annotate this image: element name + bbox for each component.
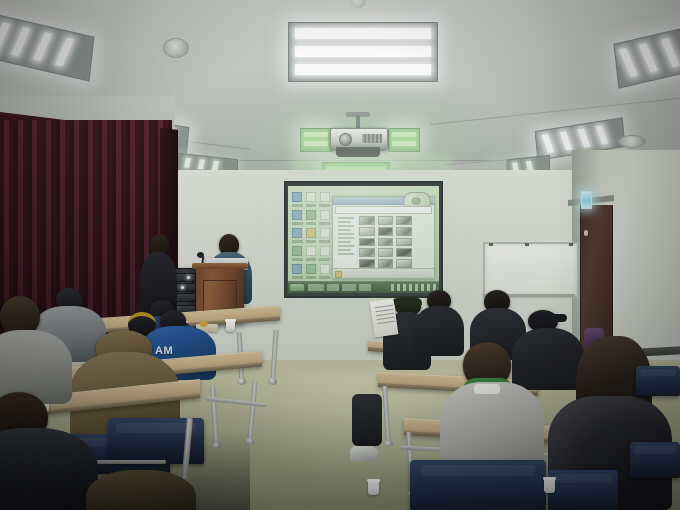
desktop-icon[interactable] [291, 227, 304, 244]
explorer-status-bar [333, 268, 434, 278]
lectern-top [192, 263, 248, 269]
file-thumbnail[interactable] [359, 259, 375, 268]
desktop-icon[interactable] [318, 209, 331, 226]
ceiling-light-green-right [388, 128, 420, 152]
desktop-icon[interactable] [291, 245, 304, 262]
desktop-icon[interactable] [291, 209, 304, 226]
desktop-icon-grid [290, 190, 332, 281]
file-thumbnail[interactable] [378, 238, 394, 247]
file-explorer-window[interactable] [332, 196, 435, 279]
door-handle-icon[interactable] [584, 230, 588, 236]
desktop-icon[interactable] [291, 191, 304, 208]
file-thumbnail[interactable] [359, 248, 375, 257]
file-thumbnail[interactable] [378, 259, 394, 268]
cap-brim-icon [545, 314, 567, 322]
desktop-icon[interactable] [305, 263, 318, 280]
shirt-collar [474, 384, 500, 394]
file-thumbnail[interactable] [359, 238, 375, 247]
desktop-icon[interactable] [305, 191, 318, 208]
desktop-icon[interactable] [318, 191, 331, 208]
file-thumbnail[interactable] [396, 259, 412, 268]
attendee-shoe [350, 446, 378, 462]
file-thumbnail[interactable] [378, 216, 394, 225]
paper-cup [368, 480, 379, 495]
projector-mount-pole [356, 115, 360, 129]
desktop-icon[interactable] [318, 227, 331, 244]
exit-sign-icon [581, 191, 592, 209]
explorer-address-bar[interactable] [335, 206, 432, 214]
file-thumbnail[interactable] [396, 248, 412, 257]
file-thumbnail[interactable] [359, 216, 375, 225]
file-thumbnail[interactable] [396, 238, 412, 247]
projector-lens-icon [339, 133, 352, 146]
file-thumbnail[interactable] [396, 227, 412, 236]
explorer-sidebar[interactable] [335, 215, 357, 268]
desktop-icon[interactable] [305, 209, 318, 226]
downlight-icon [163, 38, 189, 58]
attendee-dark-foreground [0, 428, 98, 510]
attendee-dark-jacket-1 [414, 306, 464, 356]
start-button[interactable] [290, 284, 304, 291]
taskbar-button[interactable] [342, 284, 356, 291]
file-thumbnail[interactable] [396, 216, 412, 225]
cap-brim-icon [392, 298, 422, 305]
seminar-room-photo: AM [0, 0, 680, 510]
taskbar-button[interactable] [359, 284, 371, 291]
file-thumbnail[interactable] [378, 227, 394, 236]
desktop-icon[interactable] [291, 263, 304, 280]
whiteboard-clip-icon [569, 243, 573, 246]
downlight-icon [618, 135, 646, 148]
desktop-icon[interactable] [305, 227, 318, 244]
file-thumbnail[interactable] [359, 227, 375, 236]
file-thumbnail[interactable] [378, 248, 394, 257]
projected-desktop [288, 186, 439, 293]
jacket-text: AM [155, 345, 173, 357]
chair [636, 366, 680, 396]
ceiling-light-front-center [288, 22, 438, 82]
av-indicator-led-icon [187, 276, 190, 279]
attendee-body [512, 328, 584, 390]
whiteboard-clip-icon [489, 243, 493, 246]
warning-icon [335, 271, 342, 278]
attendee-khaki-parka-lower [86, 470, 196, 510]
whiteboard-clip-icon [525, 243, 529, 246]
taskbar-button[interactable] [327, 284, 339, 291]
ceiling-light-green-left [300, 128, 332, 152]
attendee-legs [352, 394, 382, 446]
desktop-icon[interactable] [305, 245, 318, 262]
chair [410, 460, 546, 510]
printed-handout [370, 299, 399, 338]
paper-cup [544, 478, 555, 493]
paper-cup [226, 320, 235, 332]
explorer-thumbnail-grid[interactable] [359, 216, 412, 268]
chair [548, 470, 618, 510]
desktop-icon[interactable] [318, 245, 331, 262]
taskbar[interactable] [288, 281, 439, 293]
taskbar-button[interactable] [308, 284, 324, 291]
projection-screen [284, 181, 443, 298]
projector-vents [362, 134, 382, 143]
chair [630, 442, 680, 478]
system-tray[interactable] [391, 284, 437, 291]
av-indicator-led-icon [181, 286, 184, 289]
desktop-icon[interactable] [318, 263, 331, 280]
